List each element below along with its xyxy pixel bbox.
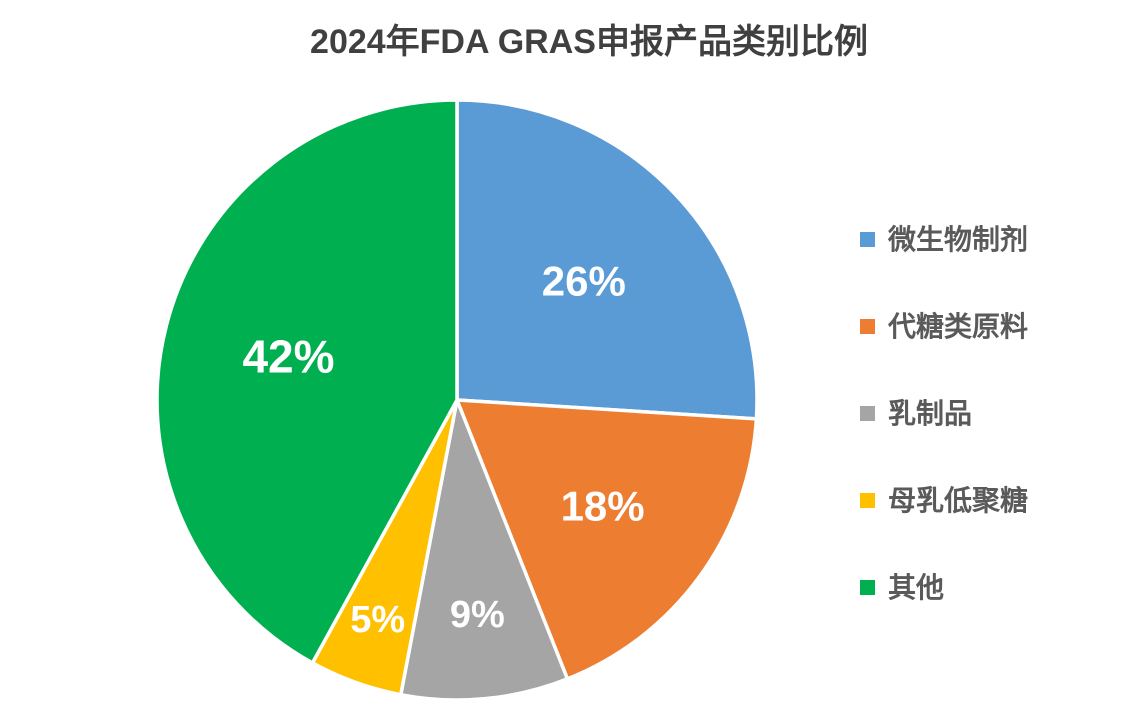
legend-label-1: 代糖类原料 [888,313,1028,341]
pie-svg: 26%18%9%5%42% [0,0,820,728]
legend-swatch-icon-2 [860,406,875,421]
legend-item-2[interactable]: 乳制品 [860,370,1120,457]
legend-swatch-icon-0 [860,232,875,247]
legend-label-0: 微生物制剂 [888,226,1028,254]
legend-swatch-icon-1 [860,319,875,334]
legend-label-4: 其他 [888,574,944,602]
legend-item-3[interactable]: 母乳低聚糖 [860,457,1120,544]
legend-item-1[interactable]: 代糖类原料 [860,283,1120,370]
legend-label-2: 乳制品 [888,400,972,428]
legend: 微生物制剂 代糖类原料 乳制品 母乳低聚糖 其他 [860,196,1120,631]
legend-item-0[interactable]: 微生物制剂 [860,196,1120,283]
pie-plot-area: 26%18%9%5%42% [0,0,820,728]
pie-slice-value-label-4: 42% [242,331,334,383]
pie-slice-value-label-3: 5% [350,599,405,641]
pie-slice-value-label-2: 9% [450,594,505,636]
pie-slice-value-label-0: 26% [542,257,626,304]
pie-slice-value-label-1: 18% [561,482,645,529]
legend-item-4[interactable]: 其他 [860,544,1120,631]
legend-swatch-icon-4 [860,580,875,595]
pie-chart-figure: 2024年FDA GRAS申报产品类别比例 26%18%9%5%42% 微生物制… [0,0,1134,728]
legend-swatch-icon-3 [860,493,875,508]
legend-label-3: 母乳低聚糖 [888,487,1028,515]
